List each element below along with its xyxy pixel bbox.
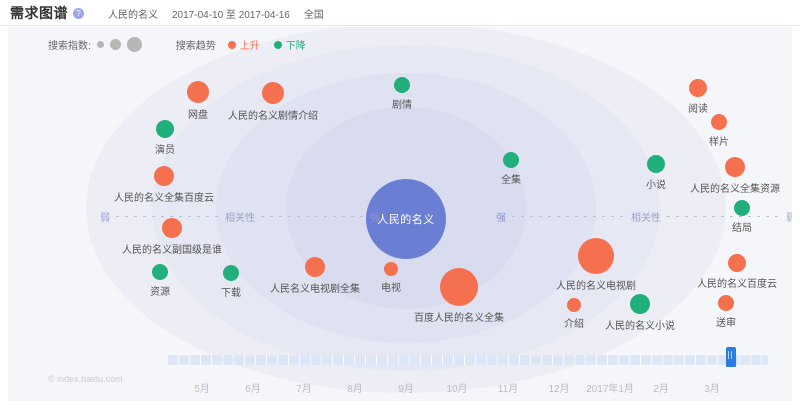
node-bubble-down[interactable] <box>156 120 174 138</box>
axis-right-dots-1 <box>512 216 625 217</box>
help-icon[interactable]: ? <box>73 8 84 19</box>
legend-down-icon <box>274 41 282 49</box>
legend-up-icon <box>228 41 236 49</box>
timeline-ticks <box>168 355 768 365</box>
node-label: 阅读 <box>688 100 708 115</box>
node-label: 人民的名义副国级是谁 <box>122 241 222 256</box>
timeline-month-label: 9月 <box>398 380 414 395</box>
node-label: 送审 <box>716 314 736 329</box>
node-bubble-up[interactable] <box>689 79 707 97</box>
timeline-month-label: 10月 <box>446 380 467 395</box>
timeline-month-labels: 5月6月7月8月9月10月11月12月2017年1月2月3月 <box>168 380 768 394</box>
node-label: 百度人民的名义全集 <box>414 309 504 324</box>
node-bubble-down[interactable] <box>630 294 650 314</box>
axis-left-relevance: 相关性 <box>225 209 255 224</box>
legend: 搜索指数: 搜索趋势 上升 下降 <box>48 37 306 52</box>
node-bubble-up[interactable] <box>154 166 174 186</box>
graph-canvas: 人民的名义 弱 相关性 强 强 相关性 弱 网盘人民的名义剧情介绍演员人民的名义… <box>8 27 792 401</box>
timeline-month-label: 5月 <box>194 380 210 395</box>
node-bubble-up[interactable] <box>567 298 581 312</box>
legend-size-dot-small <box>97 41 104 48</box>
node-bubble-down[interactable] <box>152 264 168 280</box>
timeline-month-label: 2017年1月 <box>586 380 634 395</box>
node-label: 人民的名义全集百度云 <box>114 189 214 204</box>
node-label: 样片 <box>709 133 729 148</box>
node-bubble-down[interactable] <box>503 152 519 168</box>
node-label: 电视 <box>381 279 401 294</box>
node-label: 介绍 <box>564 315 584 330</box>
node-label: 结局 <box>732 219 752 234</box>
legend-up-label: 上升 <box>240 37 260 52</box>
node-bubble-up[interactable] <box>578 238 614 274</box>
node-bubble-up[interactable] <box>187 81 209 103</box>
node-label: 人民的名义全集资源 <box>690 180 780 195</box>
node-label: 下载 <box>221 284 241 299</box>
timeline-month-label: 11月 <box>498 380 518 395</box>
timeline-handle[interactable] <box>726 347 736 367</box>
node-label: 人民的名义电视剧 <box>556 277 636 292</box>
node-label: 人民名义电视剧全集 <box>270 280 360 295</box>
node-bubble-down[interactable] <box>394 77 410 93</box>
node-label: 小说 <box>646 176 666 191</box>
timeline-month-label: 8月 <box>347 380 363 395</box>
legend-size-dot-medium <box>110 39 121 50</box>
page-header: 需求图谱 ? 人民的名义 2017-04-10 至 2017-04-16 全国 <box>0 0 800 26</box>
legend-down-label: 下降 <box>286 37 306 52</box>
node-bubble-down[interactable] <box>223 265 239 281</box>
node-bubble-down[interactable] <box>647 155 665 173</box>
axis-right-strong: 强 <box>496 209 506 224</box>
axis-right-relevance: 相关性 <box>631 209 661 224</box>
header-region[interactable]: 全国 <box>304 6 324 21</box>
axis-left-dots-2 <box>261 216 364 217</box>
node-label: 人民的名义百度云 <box>697 275 777 290</box>
header-date-range[interactable]: 2017-04-10 至 2017-04-16 <box>172 6 290 21</box>
axis-left-dots-1 <box>116 216 219 217</box>
node-label: 演员 <box>155 141 175 156</box>
demand-graph-page: 需求图谱 ? 人民的名义 2017-04-10 至 2017-04-16 全国 … <box>0 0 800 408</box>
axis-left: 弱 相关性 强 <box>100 209 380 223</box>
timeline-month-label: 3月 <box>704 380 720 395</box>
node-label: 人民的名义剧情介绍 <box>228 107 318 122</box>
axis-right-dots-2 <box>667 216 780 217</box>
node-label: 全集 <box>501 171 521 186</box>
node-bubble-up[interactable] <box>162 218 182 238</box>
node-label: 资源 <box>150 283 170 298</box>
node-label: 人民的名义小说 <box>605 317 675 332</box>
node-bubble-up[interactable] <box>262 82 284 104</box>
node-bubble-up[interactable] <box>728 254 746 272</box>
header-divider <box>0 25 800 26</box>
node-bubble-down[interactable] <box>734 200 750 216</box>
node-label: 网盘 <box>188 106 208 121</box>
node-bubble-up[interactable] <box>711 114 727 130</box>
node-bubble-up[interactable] <box>725 157 745 177</box>
axis-left-weak: 弱 <box>100 209 110 224</box>
header-keyword[interactable]: 人民的名义 <box>108 6 158 21</box>
timeline-month-label: 7月 <box>296 380 312 395</box>
timeline-month-label: 2月 <box>653 380 669 395</box>
page-title: 需求图谱 <box>10 3 68 23</box>
axis-right-weak: 弱 <box>786 209 792 224</box>
node-bubble-up[interactable] <box>718 295 734 311</box>
legend-size-label: 搜索指数: <box>48 37 91 52</box>
credit-label: © index.baidu.com <box>48 374 123 384</box>
node-label: 剧情 <box>392 96 412 111</box>
legend-size-dot-large <box>127 37 142 52</box>
axis-left-strong: 强 <box>370 209 380 224</box>
timeline-track[interactable] <box>168 355 768 365</box>
node-bubble-up[interactable] <box>305 257 325 277</box>
legend-trend-label: 搜索趋势 <box>176 37 216 52</box>
timeline-month-label: 6月 <box>245 380 261 395</box>
timeline-month-label: 12月 <box>548 380 569 395</box>
node-bubble-up[interactable] <box>440 268 478 306</box>
node-bubble-up[interactable] <box>384 262 398 276</box>
